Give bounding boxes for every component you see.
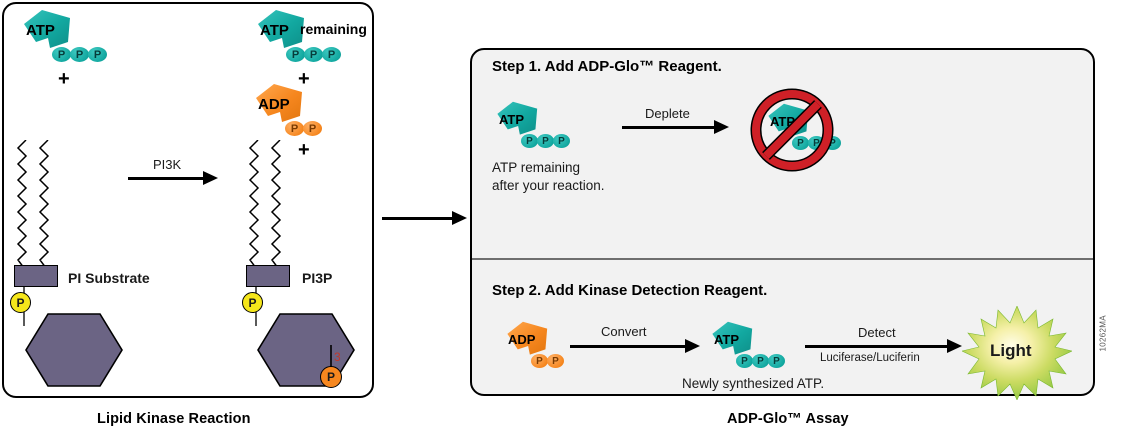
reactant-plus-sign: + bbox=[58, 69, 70, 89]
product-atp-phosphate-chain: P P P bbox=[286, 47, 340, 62]
light-label: Light bbox=[990, 341, 1032, 361]
step-divider bbox=[472, 258, 1093, 260]
convert-arrow-line bbox=[570, 345, 688, 348]
step1-title: Step 1. Add ADP-Glo™ Reagent. bbox=[492, 58, 722, 75]
phosphate-bead: P bbox=[553, 134, 570, 148]
document-code: 10262MA bbox=[1099, 338, 1108, 352]
atp-remaining-label: remaining bbox=[300, 21, 367, 37]
pi-substrate-label: PI Substrate bbox=[68, 270, 150, 286]
deplete-arrow-label: Deplete bbox=[645, 106, 690, 121]
deplete-arrow-head bbox=[714, 120, 729, 134]
reactant-lipid-glycerol-box bbox=[14, 265, 58, 287]
phosphate-bead: P bbox=[285, 121, 304, 136]
step1-note-line2: after your reaction. bbox=[492, 178, 605, 193]
lipid-kinase-reaction-caption: Lipid Kinase Reaction bbox=[97, 411, 251, 427]
step1-atp-phosphate-chain: P P P bbox=[521, 134, 569, 148]
phosphate-bead: P bbox=[286, 47, 305, 62]
phosphate-bead: P bbox=[52, 47, 71, 62]
adp-glo-assay-caption: ADP-Glo™ Assay bbox=[727, 411, 849, 427]
product-inositol-hexagon-icon bbox=[254, 310, 359, 390]
step2-adp-phosphate-chain: P P bbox=[531, 354, 563, 368]
pi3k-arrow-line bbox=[128, 177, 206, 180]
phosphate-bead: P bbox=[736, 354, 753, 368]
position-3-number: 3 bbox=[334, 350, 341, 364]
atp-label: ATP bbox=[26, 22, 55, 39]
atp-label: ATP bbox=[499, 112, 524, 127]
phosphate-bead: P bbox=[304, 47, 323, 62]
pi3p-label: PI3P bbox=[302, 270, 332, 286]
step2-title: Step 2. Add Kinase Detection Reagent. bbox=[492, 282, 767, 299]
detect-arrow-line bbox=[805, 345, 950, 348]
phosphate-bead: P bbox=[531, 354, 548, 368]
transition-arrow-line bbox=[382, 217, 455, 220]
pi3k-arrow-label: PI3K bbox=[153, 157, 181, 172]
atp-label: ATP bbox=[714, 332, 739, 347]
added-phosphate: P bbox=[320, 366, 342, 388]
reactant-atp-phosphate-chain: P P P bbox=[52, 47, 106, 62]
reactant-inositol-hexagon-icon bbox=[22, 310, 127, 390]
detect-arrow-head bbox=[947, 339, 962, 353]
transition-arrow-head bbox=[452, 211, 467, 225]
newly-synthesized-atp-note: Newly synthesized ATP. bbox=[682, 376, 824, 391]
phosphate-bead: P bbox=[521, 134, 538, 148]
atp-label: ATP bbox=[260, 22, 289, 39]
luciferase-luciferin-sublabel: Luciferase/Luciferin bbox=[820, 352, 920, 364]
phosphate-bead: P bbox=[752, 354, 769, 368]
phosphate-bead: P bbox=[88, 47, 107, 62]
step1-note-line1: ATP remaining bbox=[492, 160, 580, 175]
step2-atp-phosphate-chain: P P P bbox=[736, 354, 784, 368]
convert-arrow-head bbox=[685, 339, 700, 353]
adp-label: ADP bbox=[508, 332, 535, 347]
prohibition-sign-icon bbox=[748, 86, 836, 174]
adp-label: ADP bbox=[258, 96, 290, 113]
product-lipid-glycerol-box bbox=[246, 265, 290, 287]
phosphate-bead: P bbox=[303, 121, 322, 136]
pi3k-arrow-head bbox=[203, 171, 218, 185]
reactant-lipid-tails-icon bbox=[14, 140, 70, 270]
deplete-arrow-line bbox=[622, 126, 717, 129]
product-adp-phosphate-chain: P P bbox=[285, 121, 321, 136]
detect-arrow-label: Detect bbox=[858, 325, 896, 340]
phosphate-bead: P bbox=[322, 47, 341, 62]
phosphate-bead: P bbox=[537, 134, 554, 148]
phosphate-bead: P bbox=[768, 354, 785, 368]
phosphate-bead: P bbox=[547, 354, 564, 368]
phosphate-bead: P bbox=[70, 47, 89, 62]
convert-arrow-label: Convert bbox=[601, 324, 647, 339]
product-lipid-tails-icon bbox=[246, 140, 302, 270]
